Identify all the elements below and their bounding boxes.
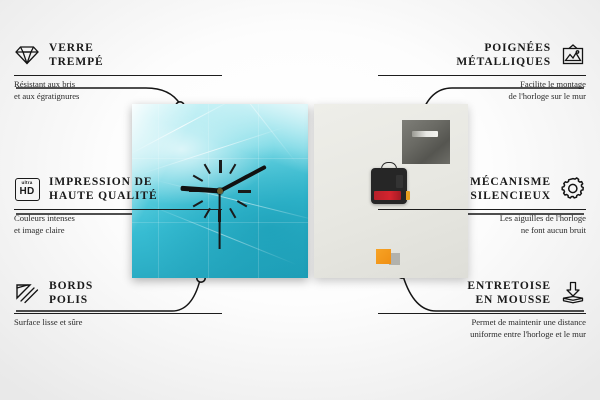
feature-title: MÉCANISME SILENCIEUX <box>470 175 551 204</box>
feature-title: VERRE TREMPÉ <box>49 41 104 70</box>
feature-bords-polis: BORDS POLIS Surface lisse et sûre <box>14 276 222 329</box>
feature-poignees-metalliques: POIGNÉES MÉTALLIQUES Facilite le montage… <box>378 38 586 103</box>
feature-verre-trempe: VERRE TREMPÉ Résistant aux bris et aux é… <box>14 38 222 103</box>
diamond-icon <box>14 42 40 68</box>
title-rule <box>378 75 586 76</box>
feature-description: Couleurs intenses et image claire <box>14 213 222 236</box>
ultra-hd-badge-icon: ultra HD <box>14 176 40 202</box>
feature-title: BORDS POLIS <box>49 279 93 308</box>
feature-title: IMPRESSION DE HAUTE QUALITÉ <box>49 175 158 204</box>
feature-title: ENTRETOISE EN MOUSSE <box>467 279 551 308</box>
title-rule <box>14 75 222 76</box>
hanger-loop <box>381 162 397 170</box>
foam-spacer-arrow-icon <box>560 280 586 306</box>
title-rule <box>14 209 222 210</box>
feature-title: POIGNÉES MÉTALLIQUES <box>456 41 551 70</box>
feature-description: Permet de maintenir une distance uniform… <box>378 317 586 340</box>
feature-description: Facilite le montage de l'horloge sur le … <box>378 79 586 102</box>
feature-mecanisme-silencieux: MÉCANISME SILENCIEUX Les aiguilles de l'… <box>378 172 586 237</box>
metal-hanger-plate <box>402 120 450 164</box>
feature-entretoise-en-mousse: ENTRETOISE EN MOUSSE Permet de maintenir… <box>378 276 586 341</box>
polished-edges-icon <box>14 280 40 306</box>
title-rule <box>378 209 586 210</box>
foam-spacer <box>376 249 391 264</box>
feature-description: Résistant aux bris et aux égratignures <box>14 79 222 102</box>
hanger-slot <box>412 131 438 137</box>
feature-description: Surface lisse et sûre <box>14 317 222 329</box>
feature-description: Les aiguilles de l'horloge ne font aucun… <box>378 213 586 236</box>
infographic-canvas: VERRE TREMPÉ Résistant aux bris et aux é… <box>0 0 600 400</box>
hd-label: HD <box>19 187 34 197</box>
feature-impression-haute-qualite: ultra HD IMPRESSION DE HAUTE QUALITÉ Cou… <box>14 172 222 237</box>
gear-icon <box>560 176 586 202</box>
title-rule <box>14 313 222 314</box>
title-rule <box>378 313 586 314</box>
hanging-frame-icon <box>560 42 586 68</box>
